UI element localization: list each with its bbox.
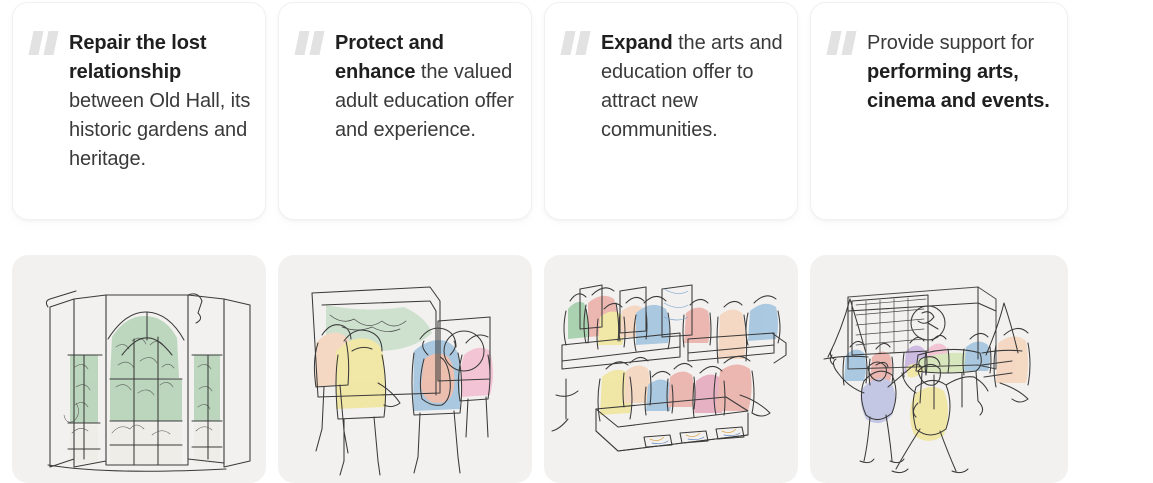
quote-text: Repair the lost relationship between Old… [69,29,251,205]
gallery-visitors-sketch [278,255,532,483]
quote-card-expand-arts-education[interactable]: Expand the arts and education offer to a… [544,2,798,220]
quote-mark-icon [827,31,857,57]
objectives-board: Repair the lost relationship between Old… [0,0,1153,483]
quote-mark-icon [295,31,325,57]
quote-bold-lead: Repair the lost relationship [69,32,206,83]
quote-mark-icon [561,31,591,57]
quote-bold-tail: performing arts, cinema and events. [867,61,1050,112]
quote-mark-icon [29,31,59,57]
objectives-quote-row: Repair the lost relationship between Old… [0,0,1153,225]
workshop-tables-sketch [544,255,798,483]
illustration-card-gallery-visitors[interactable] [278,255,532,483]
quote-card-support-performing-arts[interactable]: Provide support for performing arts, cin… [810,2,1068,220]
illustration-card-performance-stage[interactable] [810,255,1068,483]
performance-stage-sketch [810,255,1068,483]
arched-window-sketch [12,255,266,483]
quote-card-protect-adult-education[interactable]: Protect and enhance the valued adult edu… [278,2,532,220]
quote-lead: Provide support for [867,32,1034,54]
quote-bold-lead: Expand [601,32,673,54]
quote-rest: between Old Hall, its historic gardens a… [69,90,250,170]
quote-text: Protect and enhance the valued adult edu… [335,29,517,205]
objectives-illustration-row [0,255,1153,483]
quote-text: Provide support for performing arts, cin… [867,29,1053,205]
quote-card-repair-old-hall[interactable]: Repair the lost relationship between Old… [12,2,266,220]
quote-text: Expand the arts and education offer to a… [601,29,783,205]
illustration-card-education-workshop[interactable] [544,255,798,483]
illustration-card-old-hall-window[interactable] [12,255,266,483]
